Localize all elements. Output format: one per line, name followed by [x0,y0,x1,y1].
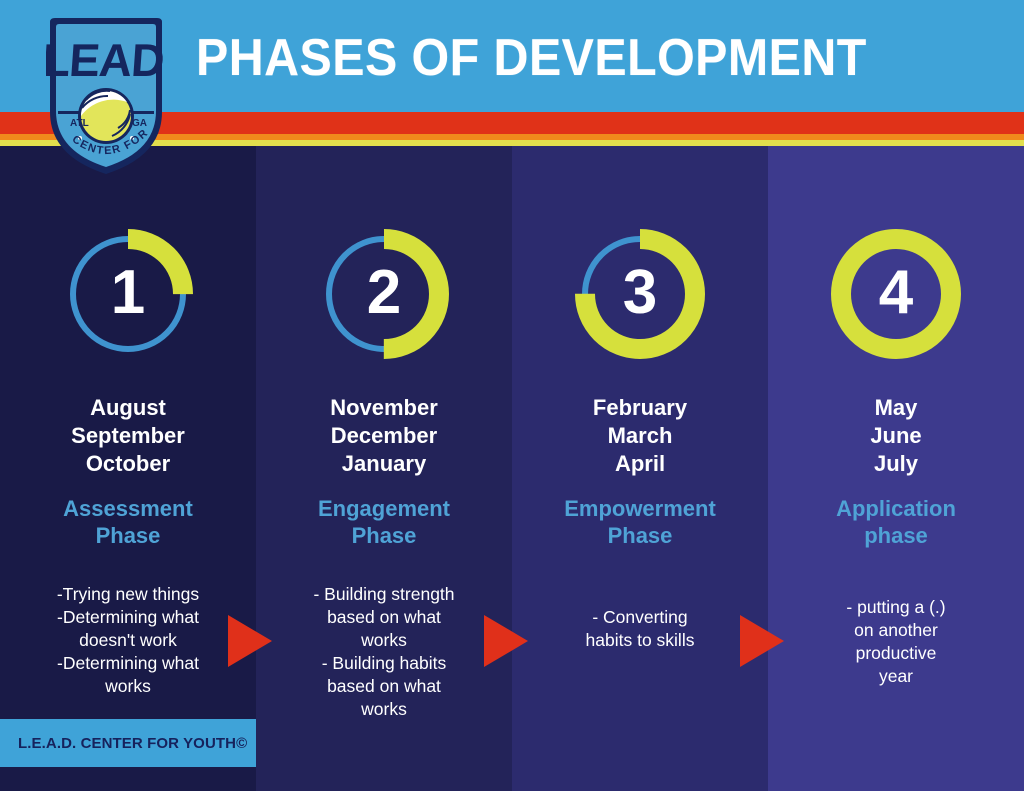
month-line: March [520,422,760,450]
phase-bullets-1: -Trying new things -Determining what doe… [14,583,242,698]
bullet-line: -Trying new things [14,583,242,606]
page-title: PHASES OF DEVELOPMENT [196,32,867,84]
arrow-phase-1-to-2-icon [228,615,272,667]
month-line: January [264,450,504,478]
phase-label-line: Phase [8,523,248,550]
phase-label-line: Phase [520,523,760,550]
phase-label-1: Assessment Phase [8,496,248,550]
bullet-line: productive [782,642,1010,665]
infographic-poster: PHASES OF DEVELOPMENT LEAD ATL GA [0,0,1024,791]
phase-column-3: 3 February March April Empowerment Phase… [512,146,768,791]
phase-number-1: 1 [62,228,194,360]
month-line: December [264,422,504,450]
footer-badge-label: L.E.A.D. CENTER FOR YOUTH© [0,735,247,752]
month-line: October [8,450,248,478]
lead-center-logo: LEAD ATL GA CENTER FOR YOUTH [46,16,166,176]
month-line: November [264,394,504,422]
month-line: June [776,422,1016,450]
phase-bullets-2: - Building strength based on what works … [270,583,498,722]
progress-ring-4: 4 [830,228,962,360]
logo-right-tag: GA [132,118,147,129]
bullet-line: - putting a (.) [782,596,1010,619]
bullet-line: -Determining what [14,606,242,629]
bullet-line: - Building strength [270,583,498,606]
bullet-line: works [270,698,498,721]
bullet-line: on another [782,619,1010,642]
phase-number-2: 2 [318,228,450,360]
phase-label-line: Assessment [8,496,248,523]
phase-bullets-3: - Converting habits to skills [526,606,754,652]
bullet-line: based on what [270,606,498,629]
phase-label-line: Phase [264,523,504,550]
phase-months-2: November December January [264,394,504,478]
bullet-line: doesn't work [14,629,242,652]
month-line: July [776,450,1016,478]
bullet-line: - Building habits [270,652,498,675]
bullet-line: works [14,675,242,698]
phase-columns: 1 August September October Assessment Ph… [0,146,1024,791]
footer-badge: L.E.A.D. CENTER FOR YOUTH© [0,719,256,767]
progress-ring-3: 3 [574,228,706,360]
bullet-line: habits to skills [526,629,754,652]
logo-wordmark: LEAD [46,34,165,86]
bullet-line: works [270,629,498,652]
phase-column-4: 4 May June July Application phase - putt… [768,146,1024,791]
phase-label-2: Engagement Phase [264,496,504,550]
logo-left-tag: ATL [70,118,89,129]
bullet-line: - Converting [526,606,754,629]
phase-label-4: Application phase [776,496,1016,550]
month-line: August [8,394,248,422]
phase-bullets-4: - putting a (.) on another productive ye… [782,596,1010,688]
phase-label-line: Engagement [264,496,504,523]
arrow-phase-3-to-4-icon [740,615,784,667]
phase-number-3: 3 [574,228,706,360]
progress-ring-2: 2 [318,228,450,360]
phase-months-1: August September October [8,394,248,478]
bullet-line: based on what [270,675,498,698]
arrow-phase-2-to-3-icon [484,615,528,667]
phase-months-3: February March April [520,394,760,478]
phase-number-4: 4 [830,228,962,360]
phase-label-line: Empowerment [520,496,760,523]
month-line: May [776,394,1016,422]
phase-column-1: 1 August September October Assessment Ph… [0,146,256,791]
month-line: April [520,450,760,478]
progress-ring-1: 1 [62,228,194,360]
month-line: February [520,394,760,422]
phase-column-2: 2 November December January Engagement P… [256,146,512,791]
phase-label-3: Empowerment Phase [520,496,760,550]
phase-months-4: May June July [776,394,1016,478]
bullet-line: year [782,665,1010,688]
phase-label-line: phase [776,523,1016,550]
bullet-line: -Determining what [14,652,242,675]
phase-label-line: Application [776,496,1016,523]
month-line: September [8,422,248,450]
